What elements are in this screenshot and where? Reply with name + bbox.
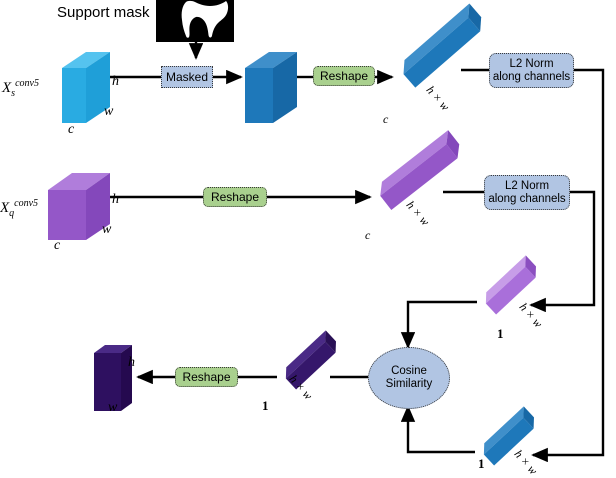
query-feature-cube (48, 173, 110, 240)
query-normalized-one-label: 1 (497, 326, 504, 342)
query-vector-bar (374, 130, 465, 210)
support-cube-c-label: c (68, 122, 74, 138)
masked-operation-box[interactable]: Masked (161, 66, 213, 88)
support-feature-superscript: conv5 (15, 78, 39, 89)
l2norm-box-support[interactable]: L2 Norm along channels (489, 53, 574, 88)
l2norm-support-line1: L2 Norm (509, 58, 553, 71)
reshape-output-label: Reshape (182, 370, 230, 384)
l2norm-box-query[interactable]: L2 Norm along channels (484, 175, 570, 210)
output-h-label: h (128, 355, 135, 371)
mask-silhouette-icon (156, 0, 234, 42)
support-mask-image (156, 0, 234, 42)
cosine-similarity-node[interactable]: Cosine Similarity (368, 347, 450, 409)
similarity-bar-one-label: 1 (262, 398, 269, 414)
cosine-line1: Cosine (391, 365, 427, 378)
support-feature-subscript: s (11, 88, 15, 99)
reshape-query-label: Reshape (211, 190, 259, 204)
l2norm-query-line2: along channels (488, 193, 565, 206)
support-normalized-one-label: 1 (478, 456, 485, 472)
support-cube-h-label: h (112, 74, 119, 90)
query-feature-subscript: q (9, 208, 14, 219)
query-feature-superscript: conv5 (14, 198, 38, 209)
masked-feature-cube (245, 52, 297, 123)
support-bar-c-label: c (383, 112, 388, 127)
support-feature-base: X (2, 80, 11, 96)
support-mask-title: Support mask (57, 4, 150, 21)
support-cube-w-label: w (104, 104, 113, 120)
query-cube-w-label: w (102, 222, 111, 238)
cosine-line2: Similarity (386, 378, 433, 391)
diagram-canvas: Support mask Xsconv5 Xqconv5 h w c h w c… (0, 0, 616, 476)
l2norm-support-line2: along channels (493, 71, 570, 84)
query-feature-base: X (0, 200, 9, 216)
support-feature-cube (62, 52, 110, 123)
support-feature-label: Xsconv5 (2, 78, 39, 99)
query-cube-c-label: c (54, 238, 60, 254)
query-feature-label: Xqconv5 (0, 198, 38, 219)
masked-operation-label: Masked (166, 70, 208, 84)
reshape-support-label: Reshape (320, 69, 368, 83)
output-w-label: w (108, 400, 117, 416)
support-vector-bar (397, 4, 488, 88)
reshape-box-support[interactable]: Reshape (313, 66, 375, 86)
query-cube-h-label: h (112, 192, 119, 208)
reshape-box-output[interactable]: Reshape (175, 367, 238, 387)
reshape-box-query[interactable]: Reshape (203, 187, 267, 207)
l2norm-query-line1: L2 Norm (505, 180, 549, 193)
query-bar-c-label: c (365, 228, 370, 243)
